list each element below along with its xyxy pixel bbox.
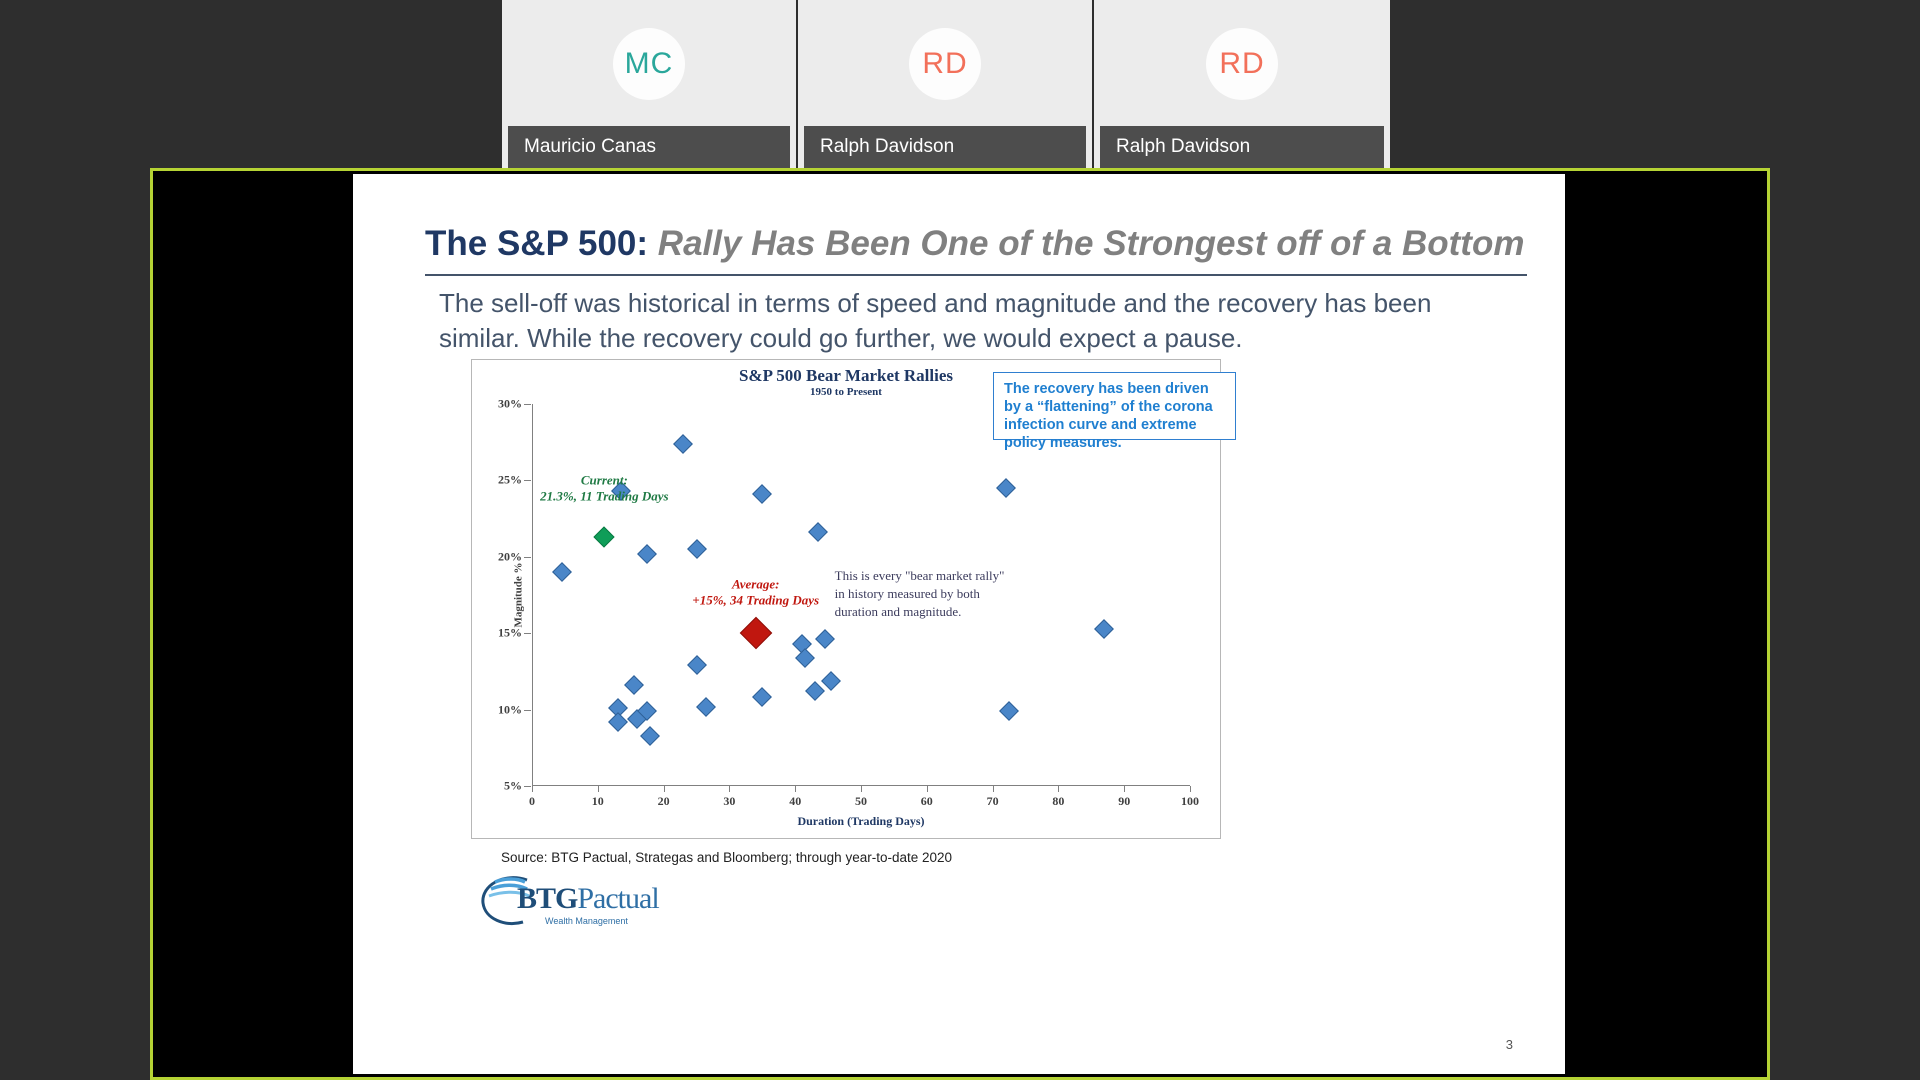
- y-tick-label: 5%: [504, 779, 522, 794]
- data-point: [815, 629, 835, 649]
- data-point: [673, 434, 693, 454]
- y-tick-label: 10%: [498, 702, 522, 717]
- source-note: Source: BTG Pactual, Strategas and Bloom…: [501, 850, 952, 865]
- page-number: 3: [1506, 1037, 1513, 1052]
- data-point: [624, 675, 644, 695]
- shared-screen-frame[interactable]: The S&P 500: Rally Has Been One of the S…: [150, 168, 1770, 1080]
- data-point: [996, 478, 1016, 498]
- data-point: [999, 701, 1019, 721]
- x-tick-label: 60: [921, 794, 933, 809]
- y-tick: [524, 480, 531, 481]
- x-tick: [1124, 786, 1125, 792]
- data-point: [687, 539, 707, 559]
- avatar-initials: RD: [922, 47, 967, 81]
- participant-name: Ralph Davidson: [804, 126, 1086, 168]
- logo-wordmark: BTGPactual: [517, 882, 659, 916]
- y-tick-label: 15%: [498, 626, 522, 641]
- y-axis: [532, 404, 533, 786]
- x-tick: [795, 786, 796, 792]
- avatar-initials: RD: [1219, 47, 1264, 81]
- avatar: RD: [909, 28, 981, 100]
- slide-subtitle: The sell-off was historical in terms of …: [439, 286, 1479, 355]
- x-tick-label: 100: [1181, 794, 1199, 809]
- participant-tile[interactable]: MC Mauricio Canas: [502, 0, 798, 168]
- y-tick-label: 25%: [498, 473, 522, 488]
- y-tick-label: 30%: [498, 397, 522, 412]
- y-tick: [524, 557, 531, 558]
- x-tick-label: 70: [987, 794, 999, 809]
- presentation-slide: The S&P 500: Rally Has Been One of the S…: [353, 174, 1565, 1074]
- x-tick: [729, 786, 730, 792]
- title-secondary: Rally Has Been One of the Strongest off …: [658, 224, 1525, 263]
- data-point: [552, 562, 572, 582]
- x-tick-label: 50: [855, 794, 867, 809]
- x-tick: [861, 786, 862, 792]
- x-tick-label: 20: [658, 794, 670, 809]
- data-point: [1095, 619, 1115, 639]
- data-point: [752, 484, 772, 504]
- data-point: [696, 697, 716, 717]
- logo-text-main: BTG: [517, 882, 577, 915]
- page-title: The S&P 500: Rally Has Been One of the S…: [425, 224, 1535, 264]
- title-primary: The S&P 500:: [425, 224, 648, 263]
- title-divider: [425, 274, 1527, 276]
- btg-pactual-logo: BTGPactual Wealth Management: [475, 870, 675, 930]
- y-tick-label: 20%: [498, 549, 522, 564]
- avatar: RD: [1206, 28, 1278, 100]
- y-axis-title: Magnitude %: [513, 562, 525, 627]
- data-point: [739, 617, 772, 650]
- average-annotation: Average: +15%, 34 Trading Days: [692, 576, 819, 609]
- x-tick-label: 80: [1052, 794, 1064, 809]
- data-point: [594, 526, 615, 547]
- y-tick: [524, 710, 531, 711]
- data-point: [752, 687, 772, 707]
- participant-tile[interactable]: RD Ralph Davidson: [798, 0, 1094, 168]
- y-tick: [524, 633, 531, 634]
- y-tick: [524, 404, 531, 405]
- participant-name: Mauricio Canas: [508, 126, 790, 168]
- data-point: [608, 712, 628, 732]
- callout-box: The recovery has been driven by a “flatt…: [993, 372, 1236, 440]
- x-tick: [532, 786, 533, 792]
- logo-text-rest: Pactual: [577, 882, 658, 915]
- x-axis-title: Duration (Trading Days): [532, 814, 1190, 829]
- method-note: This is every "bear market rally" in his…: [835, 567, 1005, 620]
- x-tick-label: 10: [592, 794, 604, 809]
- data-point: [641, 726, 661, 746]
- avatar: MC: [613, 28, 685, 100]
- x-tick-label: 0: [529, 794, 535, 809]
- x-tick-label: 90: [1118, 794, 1130, 809]
- logo-tagline: Wealth Management: [545, 916, 628, 926]
- x-tick-label: 30: [723, 794, 735, 809]
- data-point: [821, 671, 841, 691]
- x-tick: [1190, 786, 1191, 792]
- x-tick: [993, 786, 994, 792]
- data-point: [808, 522, 828, 542]
- participant-filmstrip: MC Mauricio Canas RD Ralph Davidson RD R…: [502, 0, 1390, 168]
- current-annotation: Current: 21.3%, 11 Trading Days: [540, 472, 668, 505]
- x-tick: [927, 786, 928, 792]
- participant-name: Ralph Davidson: [1100, 126, 1384, 168]
- data-point: [805, 681, 825, 701]
- avatar-initials: MC: [625, 47, 674, 81]
- x-tick: [1058, 786, 1059, 792]
- screen-root: MC Mauricio Canas RD Ralph Davidson RD R…: [0, 0, 1920, 1080]
- data-point: [687, 655, 707, 675]
- data-point: [637, 544, 657, 564]
- x-tick-label: 40: [789, 794, 801, 809]
- x-tick: [598, 786, 599, 792]
- y-tick: [524, 786, 531, 787]
- x-tick: [664, 786, 665, 792]
- participant-tile[interactable]: RD Ralph Davidson: [1094, 0, 1390, 168]
